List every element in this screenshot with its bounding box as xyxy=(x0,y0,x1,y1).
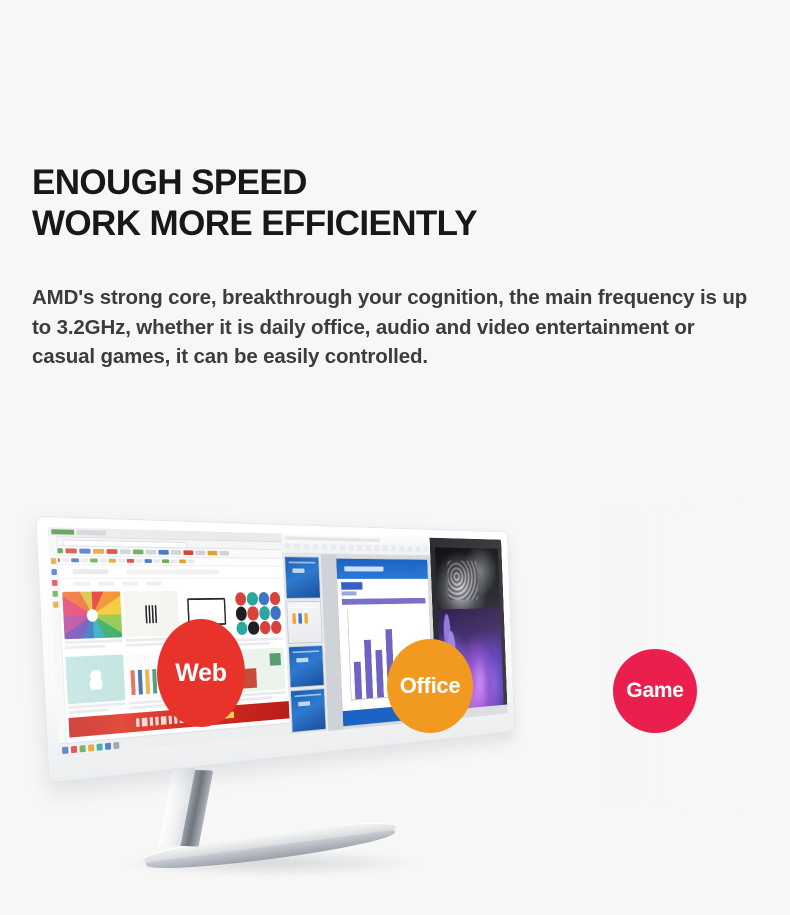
thumbnail-caption xyxy=(126,642,164,646)
slide-title-bar xyxy=(336,559,428,579)
hero-text-block: ENOUGH SPEED WORK MORE EFFICIENTLY AMD's… xyxy=(32,162,758,372)
sidebar-icon[interactable] xyxy=(52,591,58,597)
thumbnail-icon-set[interactable] xyxy=(234,590,283,637)
toolbar-icon[interactable] xyxy=(99,559,107,563)
bookmark-item[interactable] xyxy=(65,548,77,553)
toolbar-icon[interactable] xyxy=(171,559,178,563)
taskbar-icon[interactable] xyxy=(62,747,68,754)
taskbar-icon[interactable] xyxy=(88,744,94,751)
toolbar-icon[interactable] xyxy=(188,560,195,564)
bookmark-item[interactable] xyxy=(79,549,90,554)
body-paragraph: AMD's strong core, breakthrough your cog… xyxy=(32,244,754,372)
toolbar-icon[interactable] xyxy=(61,558,69,562)
thumbnail-snowman[interactable] xyxy=(65,655,125,705)
toolbar-icon[interactable] xyxy=(71,558,79,562)
badge-office[interactable]: Office xyxy=(387,639,473,733)
thumbnail-caption xyxy=(65,639,123,644)
filter-chip[interactable] xyxy=(122,581,138,585)
sidebar-icon[interactable] xyxy=(50,558,56,564)
filter-chip[interactable] xyxy=(146,581,162,585)
taskbar-icon[interactable] xyxy=(97,743,103,750)
sidebar-icon[interactable] xyxy=(51,580,57,586)
taskbar-icon[interactable] xyxy=(105,743,111,750)
office-ribbon[interactable] xyxy=(281,534,430,556)
taskbar-icon[interactable] xyxy=(71,746,77,753)
bookmark-item[interactable] xyxy=(171,550,181,555)
bookmark-item[interactable] xyxy=(158,550,168,555)
thumbnail-caption xyxy=(238,696,271,701)
toolbar-icon[interactable] xyxy=(145,559,152,563)
taskbar-icon[interactable] xyxy=(79,745,85,752)
bookmark-item[interactable] xyxy=(195,550,205,555)
filter-chip[interactable] xyxy=(73,581,90,585)
badge-web[interactable]: Web xyxy=(157,619,245,727)
bookmark-item[interactable] xyxy=(93,549,104,554)
headline-line-1: ENOUGH SPEED xyxy=(32,162,758,203)
bookmark-item[interactable] xyxy=(183,550,193,555)
bookmark-item[interactable] xyxy=(120,549,131,554)
sidebar-icon[interactable] xyxy=(53,602,59,608)
thumbnail-caption xyxy=(236,637,283,641)
slide-thumbnail[interactable] xyxy=(290,688,326,732)
bookmark-item[interactable] xyxy=(219,551,229,556)
page-title: ENOUGH SPEED WORK MORE EFFICIENTLY xyxy=(32,162,758,244)
slide-sublabel xyxy=(341,591,356,595)
bookmark-item[interactable] xyxy=(133,549,144,554)
thumbnail-caption xyxy=(65,645,106,649)
thumbnail-poster[interactable] xyxy=(123,591,179,637)
toolbar-icon[interactable] xyxy=(118,559,126,563)
toolbar-icon[interactable] xyxy=(127,559,135,563)
sidebar-icon[interactable] xyxy=(51,569,57,575)
slide-thumbnail[interactable] xyxy=(284,556,320,598)
badge-game[interactable]: Game xyxy=(613,649,697,733)
toolbar-icon[interactable] xyxy=(153,559,160,563)
thumbnail-colored-pencils[interactable] xyxy=(62,591,122,639)
toolbar-icon[interactable] xyxy=(162,559,169,563)
thumbnail-caption xyxy=(236,642,270,646)
filter-chip[interactable] xyxy=(98,581,115,585)
toolbar-icon[interactable] xyxy=(179,559,186,563)
thumbnail-caption xyxy=(68,708,109,714)
headline-line-2: WORK MORE EFFICIENTLY xyxy=(32,203,758,244)
taskbar-icon[interactable] xyxy=(113,742,119,749)
slide-thumbnail[interactable] xyxy=(286,601,322,644)
slide-divider xyxy=(342,598,426,605)
toolbar-icon[interactable] xyxy=(90,558,98,562)
toolbar-icon[interactable] xyxy=(136,559,143,563)
bookmark-item[interactable] xyxy=(146,550,157,555)
toolbar-icon[interactable] xyxy=(81,558,89,562)
image-result[interactable] xyxy=(65,655,125,715)
slide-label xyxy=(341,582,362,590)
bookmark-item[interactable] xyxy=(106,549,117,554)
slide-thumbnail[interactable] xyxy=(288,645,324,689)
search-results-header xyxy=(49,565,283,579)
toolbar-icon[interactable] xyxy=(109,559,117,563)
image-result[interactable] xyxy=(234,590,284,646)
image-result[interactable] xyxy=(62,591,123,653)
thumbnail-caption xyxy=(129,704,167,710)
bookmark-item[interactable] xyxy=(207,551,217,556)
